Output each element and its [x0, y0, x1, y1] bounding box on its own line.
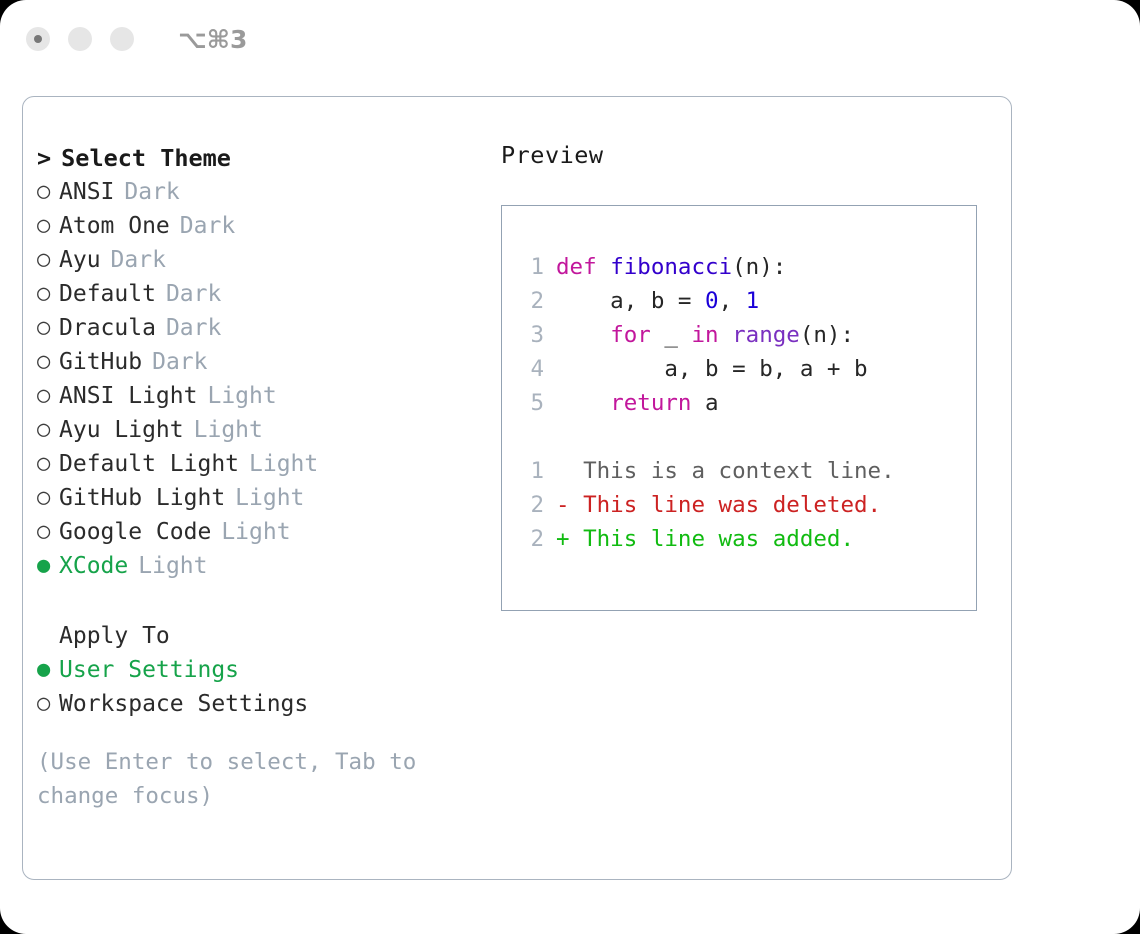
apply-to-marker-spacer: ○	[37, 625, 59, 647]
diff-line-text: + This line was added.	[556, 526, 854, 552]
theme-list: ○ANSIDark○Atom OneDark○AyuDark○DefaultDa…	[37, 175, 477, 583]
radio-selected-icon[interactable]: ●	[37, 555, 59, 577]
diff-line-content: This is a context line.	[570, 458, 895, 484]
theme-item-name: Ayu	[59, 247, 101, 273]
code-token-pln: _	[651, 322, 692, 348]
code-token-pln: a, b =	[556, 288, 705, 314]
code-token-num: 0	[705, 288, 719, 314]
radio-unselected-icon[interactable]: ○	[37, 181, 59, 203]
radio-unselected-icon[interactable]: ○	[37, 453, 59, 475]
theme-list-item[interactable]: ○GitHubDark	[37, 345, 477, 379]
theme-item-name: XCode	[59, 553, 128, 579]
code-line: 3 for _ in range(n):	[516, 318, 976, 352]
radio-unselected-icon[interactable]: ○	[37, 487, 59, 509]
theme-list-item[interactable]: ○ANSI LightLight	[37, 379, 477, 413]
radio-unselected-icon[interactable]: ○	[37, 215, 59, 237]
theme-item-mode: Light	[138, 553, 207, 579]
theme-item-mode: Light	[249, 451, 318, 477]
radio-unselected-icon[interactable]: ○	[37, 693, 59, 715]
code-line-number: 5	[516, 390, 544, 416]
preview-column: Preview 1def fibonacci(n):2 a, b = 0, 13…	[501, 141, 1001, 611]
diff-line-number: 2	[516, 492, 544, 518]
theme-item-name: Default Light	[59, 451, 239, 477]
code-line-text: a, b = b, a + b	[556, 356, 868, 382]
code-token-pln: (n):	[732, 254, 786, 280]
code-line-number: 2	[516, 288, 544, 314]
selection-caret-icon: >	[37, 144, 51, 172]
code-line: 4 a, b = b, a + b	[516, 352, 976, 386]
code-token-kw: def	[556, 254, 597, 280]
radio-unselected-icon[interactable]: ○	[37, 249, 59, 271]
theme-item-mode: Light	[194, 417, 263, 443]
theme-list-item[interactable]: ○ANSIDark	[37, 175, 477, 209]
keyboard-shortcut-label: ⌥⌘3	[178, 25, 247, 54]
code-token-num: 1	[746, 288, 760, 314]
apply-to-group: ○ Apply To	[37, 619, 477, 653]
code-token-pln: a	[691, 390, 718, 416]
code-token-pln	[556, 322, 610, 348]
code-token-pln: ,	[719, 288, 746, 314]
app-window: ⌥⌘3 > Select Theme ○ANSIDark○Atom OneDar…	[0, 0, 1140, 934]
window-titlebar: ⌥⌘3	[0, 0, 1140, 78]
diff-line-number: 2	[516, 526, 544, 552]
code-line-number: 3	[516, 322, 544, 348]
diff-marker-add: +	[556, 526, 570, 552]
diff-marker-ctx	[556, 458, 570, 484]
diff-line: 1 This is a context line.	[516, 454, 976, 488]
theme-item-mode: Dark	[152, 349, 207, 375]
diff-line-text: This is a context line.	[556, 458, 895, 484]
diff-line-content: This line was deleted.	[570, 492, 882, 518]
theme-list-item[interactable]: ○DefaultDark	[37, 277, 477, 311]
theme-list-item[interactable]: ○Ayu LightLight	[37, 413, 477, 447]
theme-item-mode: Light	[207, 383, 276, 409]
theme-item-name: Ayu Light	[59, 417, 184, 443]
theme-list-item[interactable]: ○DraculaDark	[37, 311, 477, 345]
theme-item-mode: Dark	[166, 281, 221, 307]
diff-line: 2+ This line was added.	[516, 522, 976, 556]
code-token-pln: a, b = b, a + b	[556, 356, 868, 382]
code-token-call: range	[732, 322, 800, 348]
code-line: 1def fibonacci(n):	[516, 250, 976, 284]
select-theme-heading-label: Select Theme	[61, 144, 231, 172]
code-line-text: for _ in range(n):	[556, 322, 854, 348]
main-panel: > Select Theme ○ANSIDark○Atom OneDark○Ay…	[22, 96, 1012, 880]
code-line-text: a, b = 0, 1	[556, 288, 759, 314]
code-token-kw: for	[610, 322, 651, 348]
code-token-pln: (n):	[800, 322, 854, 348]
theme-item-name: ANSI Light	[59, 383, 197, 409]
theme-list-item[interactable]: ○Default LightLight	[37, 447, 477, 481]
diff-line: 2- This line was deleted.	[516, 488, 976, 522]
keyboard-hint-text: (Use Enter to select, Tab to change focu…	[37, 745, 437, 813]
radio-unselected-icon[interactable]: ○	[37, 521, 59, 543]
apply-to-option-label: User Settings	[59, 657, 239, 683]
theme-item-name: GitHub Light	[59, 485, 225, 511]
apply-to-label: Apply To	[59, 623, 170, 649]
theme-list-item[interactable]: ○GitHub LightLight	[37, 481, 477, 515]
code-token-kw: in	[691, 322, 718, 348]
diff-line-content: This line was added.	[570, 526, 854, 552]
theme-item-mode: Light	[235, 485, 304, 511]
code-line-number: 1	[516, 254, 544, 280]
theme-item-mode: Dark	[111, 247, 166, 273]
window-dot-third[interactable]	[110, 27, 134, 51]
section-spacer	[37, 583, 477, 619]
code-token-pln	[597, 254, 611, 280]
radio-unselected-icon[interactable]: ○	[37, 385, 59, 407]
code-line-number: 4	[516, 356, 544, 382]
code-line: 2 a, b = 0, 1	[516, 284, 976, 318]
code-token-kw: return	[610, 390, 691, 416]
radio-selected-icon[interactable]: ●	[37, 659, 59, 681]
theme-item-mode: Dark	[124, 179, 179, 205]
code-sample: 1def fibonacci(n):2 a, b = 0, 13 for _ i…	[516, 250, 976, 420]
apply-to-option[interactable]: ●User Settings	[37, 653, 477, 687]
theme-item-name: Google Code	[59, 519, 211, 545]
window-controls	[26, 27, 134, 51]
code-token-fn: fibonacci	[610, 254, 732, 280]
theme-picker-column: > Select Theme ○ANSIDark○Atom OneDark○Ay…	[37, 141, 477, 813]
hint-spacer	[37, 721, 477, 745]
diff-sample: 1 This is a context line.2- This line wa…	[516, 454, 976, 556]
theme-item-name: Atom One	[59, 213, 170, 239]
theme-item-name: ANSI	[59, 179, 114, 205]
theme-item-name: GitHub	[59, 349, 142, 375]
diff-line-number: 1	[516, 458, 544, 484]
apply-to-list: ●User Settings○Workspace Settings	[37, 653, 477, 721]
code-token-pln	[719, 322, 733, 348]
code-line-text: def fibonacci(n):	[556, 254, 786, 280]
diff-line-text: - This line was deleted.	[556, 492, 881, 518]
radio-unselected-icon[interactable]: ○	[37, 283, 59, 305]
window-dot-second[interactable]	[68, 27, 92, 51]
theme-list-item[interactable]: ●XCodeLight	[37, 549, 477, 583]
select-theme-heading: > Select Theme	[37, 141, 477, 175]
code-line-text: return a	[556, 390, 719, 416]
window-dot-active-inner	[34, 35, 42, 43]
theme-item-name: Default	[59, 281, 156, 307]
window-dot-active[interactable]	[26, 27, 50, 51]
theme-list-item[interactable]: ○AyuDark	[37, 243, 477, 277]
code-line: 5 return a	[516, 386, 976, 420]
preview-title: Preview	[501, 141, 1001, 169]
theme-list-item[interactable]: ○Atom OneDark	[37, 209, 477, 243]
radio-unselected-icon[interactable]: ○	[37, 419, 59, 441]
radio-unselected-icon[interactable]: ○	[37, 351, 59, 373]
diff-marker-del: -	[556, 492, 570, 518]
theme-item-mode: Light	[221, 519, 290, 545]
theme-list-item[interactable]: ○Google CodeLight	[37, 515, 477, 549]
apply-to-option[interactable]: ○Workspace Settings	[37, 687, 477, 721]
code-diff-separator	[516, 420, 976, 454]
preview-box: 1def fibonacci(n):2 a, b = 0, 13 for _ i…	[501, 205, 977, 611]
theme-item-mode: Dark	[180, 213, 235, 239]
theme-item-name: Dracula	[59, 315, 156, 341]
code-token-pln	[556, 390, 610, 416]
theme-item-mode: Dark	[166, 315, 221, 341]
radio-unselected-icon[interactable]: ○	[37, 317, 59, 339]
apply-to-option-label: Workspace Settings	[59, 691, 308, 717]
